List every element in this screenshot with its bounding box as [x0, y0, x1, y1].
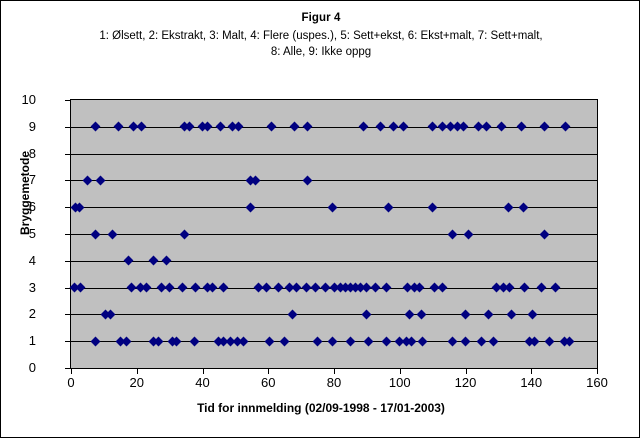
data-point [416, 309, 426, 319]
data-point [148, 256, 158, 266]
data-point [184, 122, 194, 132]
y-tick-label-9: 9 [0, 121, 36, 133]
x-tick-mark-20 [137, 369, 138, 374]
y-tick-mark-8 [65, 154, 70, 155]
data-point [345, 336, 355, 346]
plot-area [70, 99, 598, 369]
data-point [551, 283, 561, 293]
x-tick-mark-120 [466, 369, 467, 374]
x-tick-mark-100 [400, 369, 401, 374]
title-block: Figur 4 1: Ølsett, 2: Ekstrakt, 3: Malt,… [1, 11, 640, 60]
data-point [528, 309, 538, 319]
y-tick-label-3: 3 [0, 282, 36, 294]
y-tick-mark-6 [65, 207, 70, 208]
data-point [303, 122, 313, 132]
y-tick-label-2: 2 [0, 308, 36, 320]
data-point [265, 336, 275, 346]
data-point [477, 336, 487, 346]
data-point [303, 175, 313, 185]
data-point [375, 122, 385, 132]
data-point [482, 122, 492, 132]
data-point [267, 122, 277, 132]
data-point [383, 202, 393, 212]
data-point [161, 256, 171, 266]
data-point [447, 336, 457, 346]
data-point [290, 122, 300, 132]
chart-subtitle: 1: Ølsett, 2: Ekstrakt, 3: Malt, 4: Fler… [96, 28, 546, 60]
data-point [82, 175, 92, 185]
gridline-y-8 [71, 154, 597, 155]
data-point [262, 283, 272, 293]
y-tick-label-0: 0 [0, 362, 36, 374]
data-point [311, 283, 321, 293]
data-point [505, 283, 515, 293]
data-point [561, 122, 571, 132]
x-tick-mark-60 [268, 369, 269, 374]
x-tick-label-20: 20 [115, 375, 159, 390]
data-point [370, 283, 380, 293]
data-point [484, 309, 494, 319]
data-point [91, 229, 101, 239]
data-point [288, 309, 298, 319]
data-point [428, 202, 438, 212]
data-point [503, 202, 513, 212]
data-point [76, 283, 86, 293]
data-point [137, 122, 147, 132]
data-point [202, 122, 212, 132]
y-tick-label-7: 7 [0, 174, 36, 186]
data-point [179, 229, 189, 239]
data-point [216, 122, 226, 132]
x-tick-label-40: 40 [181, 375, 225, 390]
data-point [291, 283, 301, 293]
data-point [536, 283, 546, 293]
x-tick-label-80: 80 [312, 375, 356, 390]
gridline-y-2 [71, 314, 597, 315]
y-tick-label-1: 1 [0, 335, 36, 347]
data-point [539, 122, 549, 132]
data-point [382, 336, 392, 346]
data-point [327, 336, 337, 346]
y-tick-mark-7 [65, 180, 70, 181]
y-tick-label-5: 5 [0, 228, 36, 240]
gridline-y-7 [71, 180, 597, 181]
data-point [91, 122, 101, 132]
y-tick-mark-4 [65, 261, 70, 262]
data-point [447, 229, 457, 239]
x-tick-mark-40 [203, 369, 204, 374]
y-tick-mark-5 [65, 234, 70, 235]
data-point [518, 202, 528, 212]
data-point [418, 336, 428, 346]
data-point [191, 283, 201, 293]
y-tick-label-8: 8 [0, 148, 36, 160]
data-point [507, 309, 517, 319]
data-point [301, 283, 311, 293]
data-point [539, 229, 549, 239]
x-tick-label-120: 120 [444, 375, 488, 390]
data-point [273, 283, 283, 293]
x-tick-label-60: 60 [246, 375, 290, 390]
y-tick-label-10: 10 [0, 94, 36, 106]
y-tick-mark-2 [65, 314, 70, 315]
data-point [91, 336, 101, 346]
data-point [124, 256, 134, 266]
data-point [459, 122, 469, 132]
data-point [234, 122, 244, 132]
data-point [165, 283, 175, 293]
data-point [359, 122, 369, 132]
figure-container: Figur 4 1: Ølsett, 2: Ekstrakt, 3: Malt,… [0, 0, 640, 438]
data-point [114, 122, 124, 132]
data-point [415, 283, 425, 293]
data-point [219, 283, 229, 293]
data-point [544, 336, 554, 346]
data-point [142, 283, 152, 293]
y-tick-mark-10 [65, 100, 70, 101]
x-tick-mark-80 [334, 369, 335, 374]
data-point [313, 336, 323, 346]
x-tick-label-100: 100 [378, 375, 422, 390]
data-point [280, 336, 290, 346]
data-point [438, 283, 448, 293]
x-tick-mark-0 [71, 369, 72, 374]
x-tick-label-140: 140 [509, 375, 553, 390]
data-point [382, 283, 392, 293]
data-point [107, 229, 117, 239]
data-point [488, 336, 498, 346]
data-point [96, 175, 106, 185]
data-point [461, 309, 471, 319]
data-point [245, 202, 255, 212]
x-axis-title: Tid for innmelding (02/09-1998 - 17/01-2… [1, 401, 640, 415]
y-tick-mark-9 [65, 127, 70, 128]
x-tick-label-160: 160 [575, 375, 619, 390]
data-point [239, 336, 249, 346]
x-tick-label-0: 0 [49, 375, 93, 390]
data-point [464, 229, 474, 239]
x-tick-mark-140 [531, 369, 532, 374]
data-point [388, 122, 398, 132]
data-point [516, 122, 526, 132]
data-point [405, 309, 415, 319]
data-point [178, 283, 188, 293]
data-point [497, 122, 507, 132]
x-tick-mark-160 [597, 369, 598, 374]
data-point [362, 309, 372, 319]
y-tick-mark-1 [65, 341, 70, 342]
data-point [398, 122, 408, 132]
y-tick-label-4: 4 [0, 255, 36, 267]
data-point [189, 336, 199, 346]
data-point [520, 283, 530, 293]
data-point [122, 336, 132, 346]
y-tick-mark-0 [65, 368, 70, 369]
plot-inner [71, 100, 597, 368]
gridline-y-5 [71, 234, 597, 235]
data-point [461, 336, 471, 346]
y-tick-mark-3 [65, 288, 70, 289]
y-tick-label-6: 6 [0, 201, 36, 213]
data-point [327, 202, 337, 212]
chart-title: Figur 4 [1, 11, 640, 26]
data-point [364, 336, 374, 346]
data-point [428, 122, 438, 132]
